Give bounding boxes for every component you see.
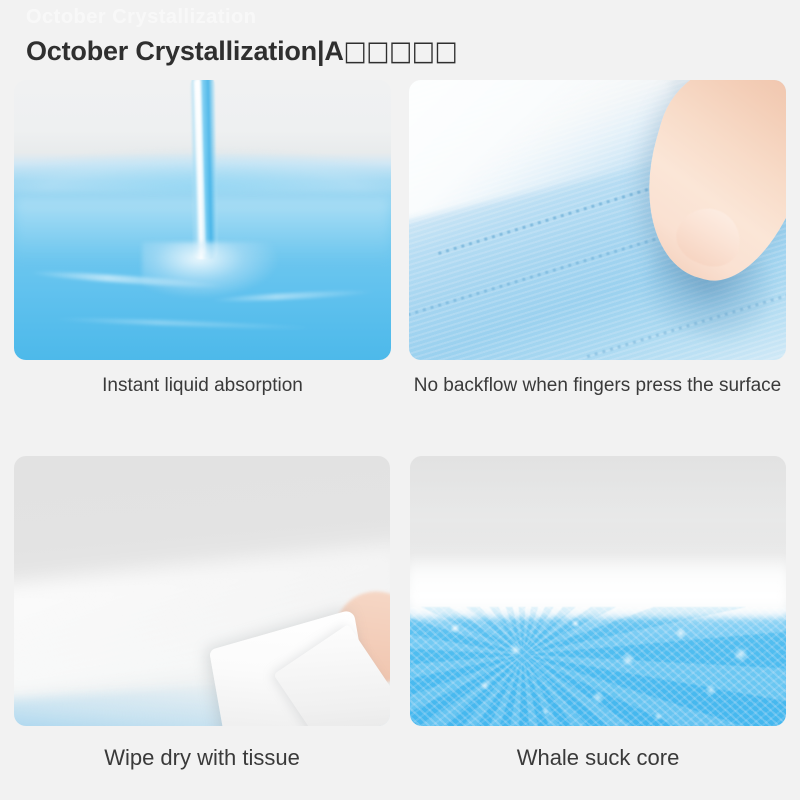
feature-cell-whale-suck-core[interactable]: Whale suck core [410, 456, 786, 770]
page-title-text: October Crystallization|A [26, 36, 344, 66]
feature-caption-whale-suck-core: Whale suck core [517, 746, 680, 770]
feature-image-wipe-dry [14, 456, 390, 726]
feature-caption-instant-absorption: Instant liquid absorption [102, 374, 303, 398]
watermark-text: October Crystallization [26, 6, 256, 29]
feature-row-top: Instant liquid absorption No backflow wh… [0, 80, 800, 398]
feature-cell-instant-absorption[interactable]: Instant liquid absorption [14, 80, 391, 398]
feature-cell-no-backflow[interactable]: No backflow when fingers press the surfa… [409, 80, 786, 398]
water-splash [142, 242, 278, 298]
water-ripple [52, 316, 316, 330]
feature-image-whale-suck-core [410, 456, 786, 726]
core-top-sheet [410, 456, 786, 564]
feature-cell-wipe-dry[interactable]: Wipe dry with tissue [14, 456, 390, 770]
feature-grid: Instant liquid absorption No backflow wh… [0, 80, 800, 770]
product-feature-page: October Crystallization October Crystall… [0, 0, 800, 800]
feature-image-no-backflow [409, 80, 786, 360]
page-title: October Crystallization|A□□□□□ [26, 34, 457, 69]
crystal-sparkle [410, 607, 786, 726]
page-title-unrendered-glyphs: □□□□□ [344, 36, 458, 67]
feature-caption-no-backflow: No backflow when fingers press the surfa… [414, 374, 782, 398]
feature-row-bottom: Wipe dry with tissue Whale suck core [0, 456, 800, 770]
feature-image-instant-absorption [14, 80, 391, 360]
feature-caption-wipe-dry: Wipe dry with tissue [104, 746, 300, 770]
